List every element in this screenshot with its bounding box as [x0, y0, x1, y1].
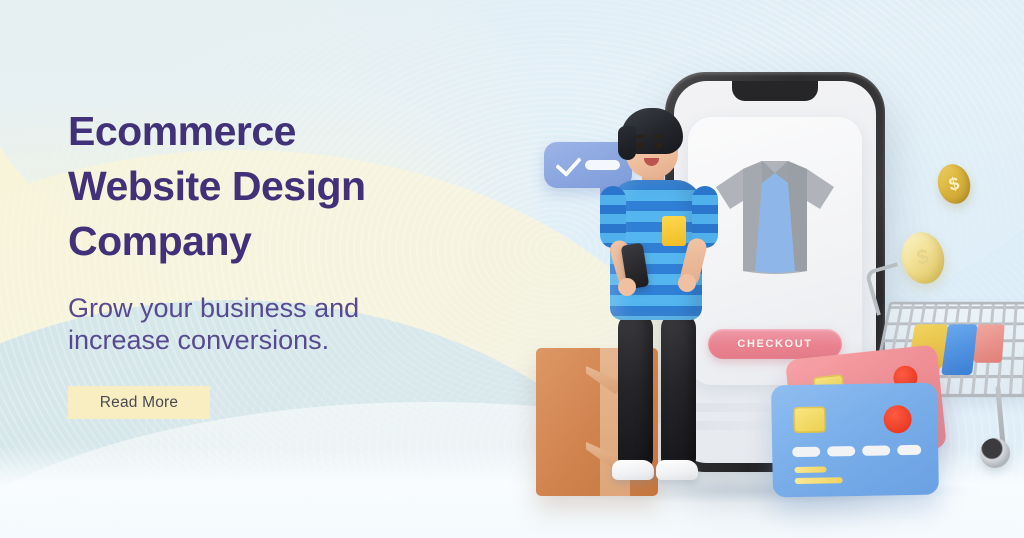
character-hair-side [618, 126, 636, 160]
character-leg [661, 313, 696, 471]
card-stripe [795, 477, 843, 484]
page-title: Ecommerce Website Design Company [68, 104, 538, 269]
character-legs [618, 313, 696, 473]
card-chip [793, 407, 825, 434]
hero-illustration: CHECKOUT $ $ [500, 0, 1024, 538]
coin-gold-large: $ [897, 228, 949, 288]
card-number-group [897, 445, 921, 455]
checkout-button[interactable]: CHECKOUT [708, 329, 842, 359]
card-number-group [792, 447, 820, 457]
character-eye [656, 142, 662, 149]
read-more-button[interactable]: Read More [68, 386, 210, 419]
character-eye [637, 142, 643, 149]
checkout-button-label: CHECKOUT [737, 338, 812, 350]
sneaker-icon [656, 460, 698, 480]
copy-block: Ecommerce Website Design Company Grow yo… [68, 104, 538, 356]
card-logo-dot [883, 405, 911, 433]
character-leg [618, 313, 653, 471]
page-subtitle: Grow your business and increase conversi… [68, 292, 538, 356]
sneaker-icon [612, 460, 654, 480]
hero-banner: Ecommerce Website Design Company Grow yo… [0, 0, 1024, 538]
shopper-character [592, 108, 724, 508]
credit-card-blue [771, 383, 939, 498]
card-number-group [827, 446, 855, 456]
character-hand [678, 274, 696, 292]
check-icon [555, 150, 582, 177]
cart-wheel [980, 438, 1010, 468]
cart-item [941, 324, 977, 375]
card-stripe [794, 467, 826, 474]
coin-gold-small: $ [934, 161, 975, 208]
phone-notch [732, 81, 818, 101]
card-number-group [862, 445, 890, 455]
cart-item [973, 324, 1004, 363]
character-hand [618, 278, 636, 296]
character-sleeve [600, 186, 626, 248]
tshirt-pocket [662, 216, 686, 246]
